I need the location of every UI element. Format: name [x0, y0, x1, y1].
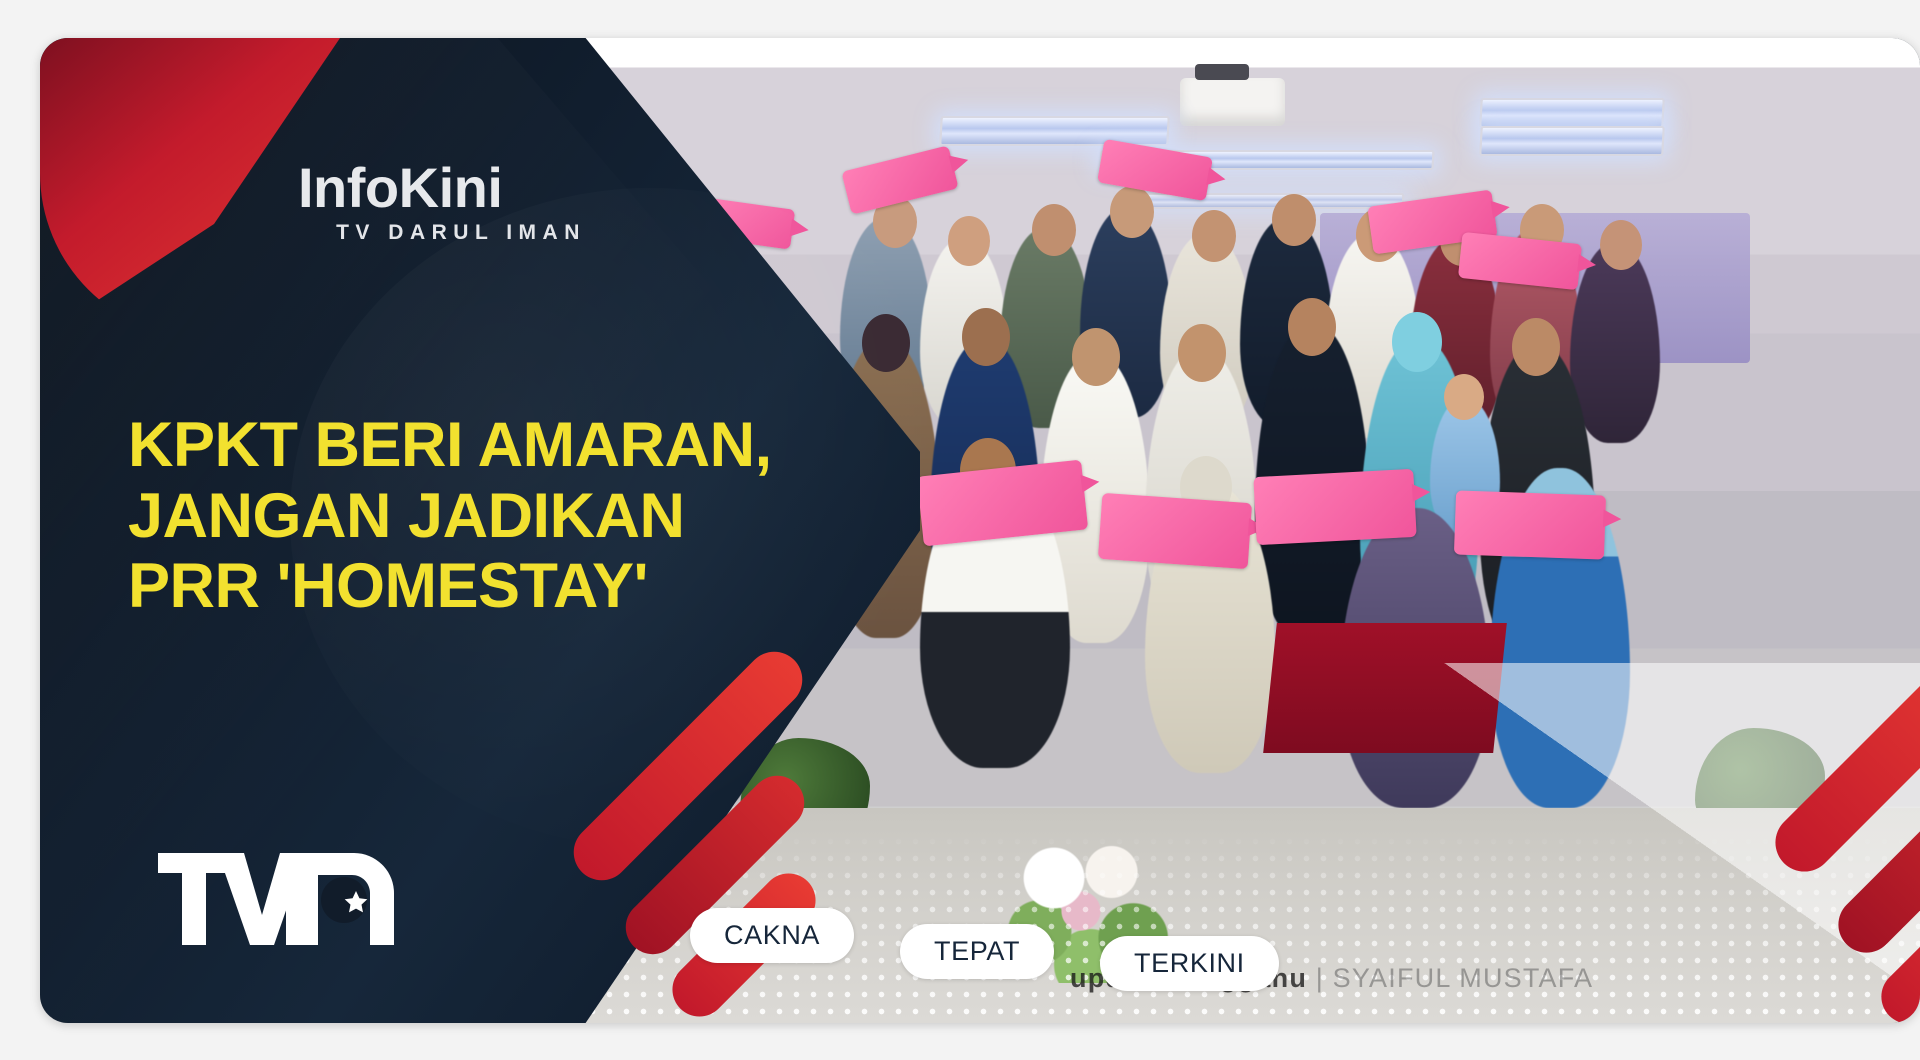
headline-text: KPKT BERI AMARAN, JANGAN JADIKAN PRR 'HO…	[128, 410, 828, 622]
attendee-head	[1392, 312, 1442, 372]
attendee-head	[1272, 194, 1316, 246]
watermark-separator: |	[1316, 963, 1324, 993]
giant-key-prop	[1098, 493, 1252, 569]
tagline-pill-group: CAKNA TEPAT TERKINI	[690, 908, 1279, 963]
attendee-head	[1032, 204, 1076, 256]
ceiling-projector-icon	[1180, 78, 1285, 126]
brand-title: InfoKini	[298, 160, 618, 216]
news-card: updi_terengganu | SYAIFUL MUSTAFA InfoKi…	[40, 38, 1920, 1023]
ceiling-light	[939, 116, 1170, 146]
tvd-logo[interactable]	[158, 853, 394, 945]
attendee-head	[1192, 210, 1236, 262]
tagline-pill-cakna[interactable]: CAKNA	[690, 908, 854, 963]
attendee-head	[1110, 186, 1154, 238]
giant-key-prop	[1253, 469, 1416, 545]
giant-key-prop	[1454, 490, 1606, 559]
ceiling-light	[1479, 98, 1665, 128]
child-head	[1444, 374, 1484, 420]
tagline-pill-tepat[interactable]: TEPAT	[900, 924, 1054, 979]
headline-line-3: PRR 'HOMESTAY'	[128, 551, 828, 622]
headline-line-1: KPKT BERI AMARAN,	[128, 410, 828, 481]
tagline-pill-terkini[interactable]: TERKINI	[1100, 936, 1279, 991]
watermark-credit: SYAIFUL MUSTAFA	[1333, 963, 1594, 993]
headline-line-2: JANGAN JADIKAN	[128, 481, 828, 552]
brand-block: InfoKini TV DARUL IMAN	[298, 160, 618, 245]
attendee-head	[1288, 298, 1336, 356]
brand-subtitle: TV DARUL IMAN	[298, 221, 618, 245]
ceiling-light	[1479, 126, 1665, 156]
attendee-head	[1072, 328, 1120, 386]
attendee-head	[1178, 324, 1226, 382]
attendee-head	[1600, 220, 1642, 270]
attendee-head	[1512, 318, 1560, 376]
attendee-head	[962, 308, 1010, 366]
crescent-star-icon	[321, 877, 367, 923]
tvd-logo-icon	[158, 853, 394, 945]
screenshot-root: updi_terengganu | SYAIFUL MUSTAFA InfoKi…	[0, 0, 1920, 1060]
attendee	[1570, 243, 1660, 443]
attendee-head	[948, 216, 990, 266]
